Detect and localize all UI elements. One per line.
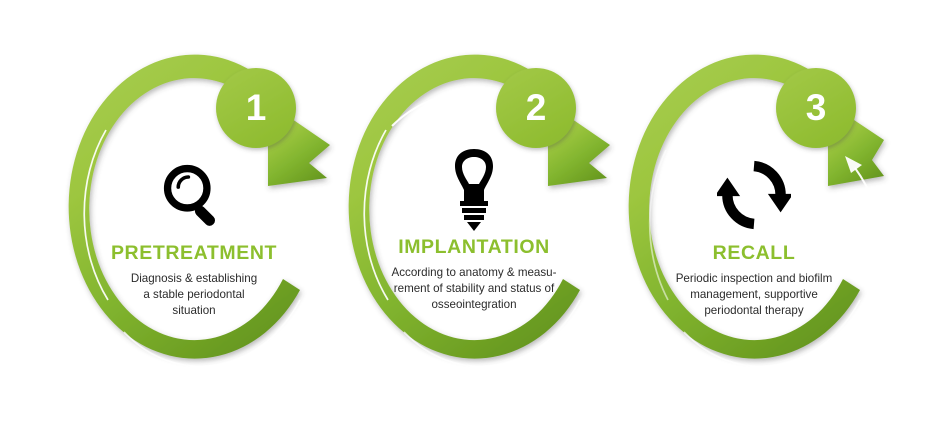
step-number-3: 3 <box>796 89 836 126</box>
desc-line: Periodic inspection and biofilm <box>646 271 862 287</box>
desc-line: Diagnosis & establishing <box>86 271 302 287</box>
desc-line: osseointegration <box>366 297 582 313</box>
desc-line: periodontal therapy <box>646 303 862 319</box>
step-panel-1: PRETREATMENT Diagnosis & establishing a … <box>86 152 302 320</box>
ring-1-flow-arrow <box>312 270 327 332</box>
step-panel-2: IMPLANTATION According to anatomy & meas… <box>366 146 582 314</box>
step-description-1: Diagnosis & establishing a stable period… <box>86 271 302 320</box>
desc-line: situation <box>86 303 302 319</box>
step-title-2: IMPLANTATION <box>366 238 582 258</box>
desc-line: a stable periodontal <box>86 287 302 303</box>
step-number-2: 2 <box>516 89 556 126</box>
step-title-1: PRETREATMENT <box>86 244 302 264</box>
magnifier-icon <box>86 152 302 238</box>
step-description-2: According to anatomy & measu- rement of … <box>366 265 582 314</box>
step-number-1: 1 <box>236 89 276 126</box>
process-infographic: 1 PRETREATMENT Diagnosis & establishing … <box>0 0 940 425</box>
desc-line: rement of stability and status of <box>366 281 582 297</box>
step-panel-3: RECALL Periodic inspection and biofilm m… <box>646 152 862 320</box>
refresh-cycle-icon <box>646 152 862 238</box>
step-title-3: RECALL <box>646 244 862 264</box>
dental-implant-icon <box>366 146 582 232</box>
step-description-3: Periodic inspection and biofilm manageme… <box>646 271 862 320</box>
desc-line: management, supportive <box>646 287 862 303</box>
desc-line: According to anatomy & measu- <box>366 265 582 281</box>
